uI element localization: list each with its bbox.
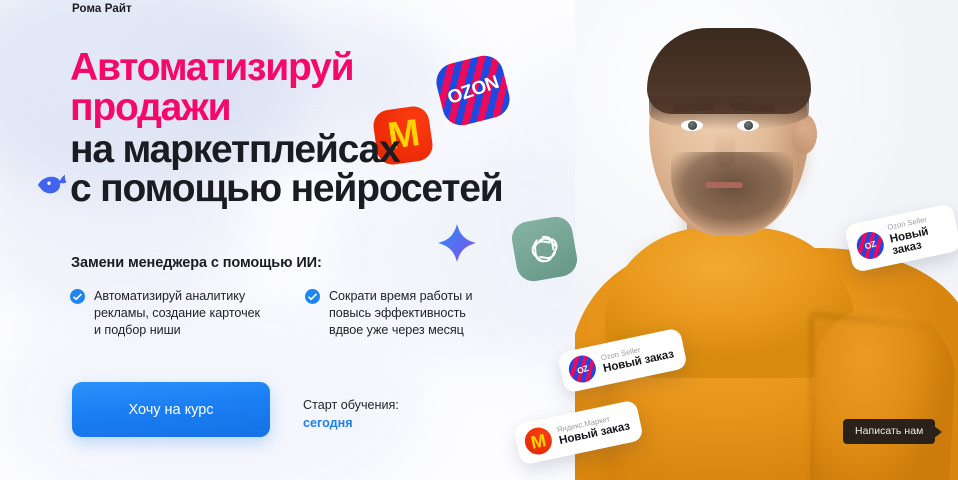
eye-left: [681, 120, 703, 131]
yandex-market-icon: M: [522, 425, 554, 457]
enroll-button[interactable]: Хочу на курс: [72, 382, 270, 437]
headline-line-3: на маркетплейсах: [70, 130, 503, 170]
ozon-icon: OZ: [566, 353, 598, 385]
sleeve-seam: [809, 318, 814, 480]
list-item: Сократи время работы и повысь эффективно…: [305, 288, 495, 339]
headline-line-4: с помощью нейросетей: [70, 169, 503, 209]
chatgpt-tile: [509, 214, 579, 284]
yandex-market-icon-text: M: [529, 431, 547, 452]
chat-tooltip[interactable]: Написать нам: [843, 419, 935, 444]
openai-knot-icon: [522, 227, 566, 271]
check-circle-icon: [305, 289, 320, 304]
ozon-icon-text: OZ: [863, 239, 877, 252]
benefit-text: Сократи время работы и повысь эффективно…: [329, 288, 495, 339]
course-start-info: Старт обучения: сегодня: [303, 396, 399, 433]
mouth: [705, 182, 743, 188]
hero-section: Рома Райт Автоматизируй продажи на марке…: [0, 0, 958, 480]
notification-body: Ozon Seller Новый заказ: [600, 339, 675, 375]
page-title: Автоматизируй продажи на маркетплейсах с…: [70, 48, 503, 209]
list-item: Автоматизируй аналитику рекламы, создани…: [70, 288, 260, 339]
chatgpt-logo: [509, 214, 579, 284]
sparkle-star-icon: [436, 222, 478, 264]
ozon-icon-text: OZ: [576, 363, 590, 376]
hair-fade: [649, 96, 809, 130]
eye-right: [737, 120, 759, 131]
start-label: Старт обучения:: [303, 396, 399, 414]
deepseek-whale-icon: [34, 168, 72, 200]
headline-line-1: Автоматизируй: [70, 48, 503, 88]
notification-body: Яндекс.Маркет Новый заказ: [556, 411, 631, 447]
check-circle-icon: [70, 289, 85, 304]
site-logo[interactable]: Рома Райт: [72, 3, 132, 15]
subheading: Замени менеджера с помощью ИИ:: [71, 255, 322, 271]
benefit-text: Автоматизируй аналитику рекламы, создани…: [94, 288, 260, 339]
notification-body: Ozon Seller Новый заказ: [887, 212, 950, 258]
headline-line-2: продажи: [70, 88, 503, 128]
hoodie-sleeve: [808, 304, 958, 480]
benefit-list: Автоматизируй аналитику рекламы, создани…: [70, 288, 495, 339]
start-value: сегодня: [303, 414, 399, 432]
ozon-icon: OZ: [854, 229, 886, 261]
